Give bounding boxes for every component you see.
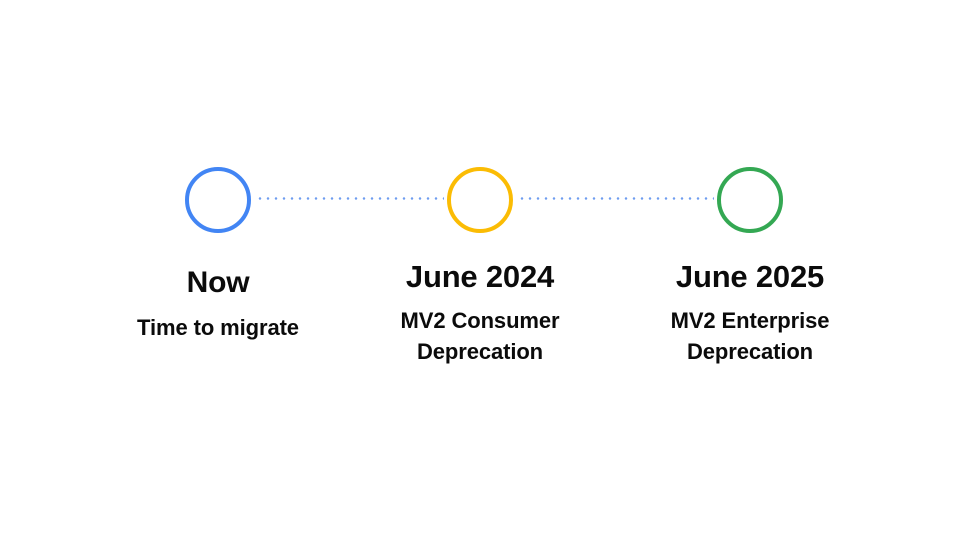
milestone-title-now: Now — [68, 264, 368, 302]
circle-marker-icon-june-2024 — [447, 167, 513, 233]
milestone-title-june-2024: June 2024 — [330, 258, 630, 296]
milestone-labels-june-2024: June 2024 MV2 Consumer Deprecation — [330, 258, 630, 367]
milestone-title-june-2025: June 2025 — [600, 258, 900, 296]
circle-marker-icon-june-2025 — [717, 167, 783, 233]
milestone-caption-line: Time to migrate — [68, 312, 368, 343]
milestone-labels-now: Now Time to migrate — [68, 258, 368, 343]
milestone-labels-june-2025: June 2025 MV2 Enterprise Deprecation — [600, 258, 900, 367]
milestone-caption-line: Deprecation — [600, 336, 900, 367]
circle-marker-icon-now — [185, 167, 251, 233]
timeline-figure: Now Time to migrate June 2024 MV2 Consum… — [0, 0, 960, 540]
timeline-connector-june-2024-to-june-2025 — [518, 197, 714, 200]
milestone-caption-line: Deprecation — [330, 336, 630, 367]
milestone-caption-line: MV2 Consumer — [330, 305, 630, 336]
milestone-caption-june-2024: MV2 Consumer Deprecation — [330, 305, 630, 367]
milestone-caption-june-2025: MV2 Enterprise Deprecation — [600, 305, 900, 367]
milestone-caption-line: MV2 Enterprise — [600, 305, 900, 336]
timeline-connector-now-to-june-2024 — [256, 197, 444, 200]
milestone-caption-now: Time to migrate — [68, 312, 368, 343]
